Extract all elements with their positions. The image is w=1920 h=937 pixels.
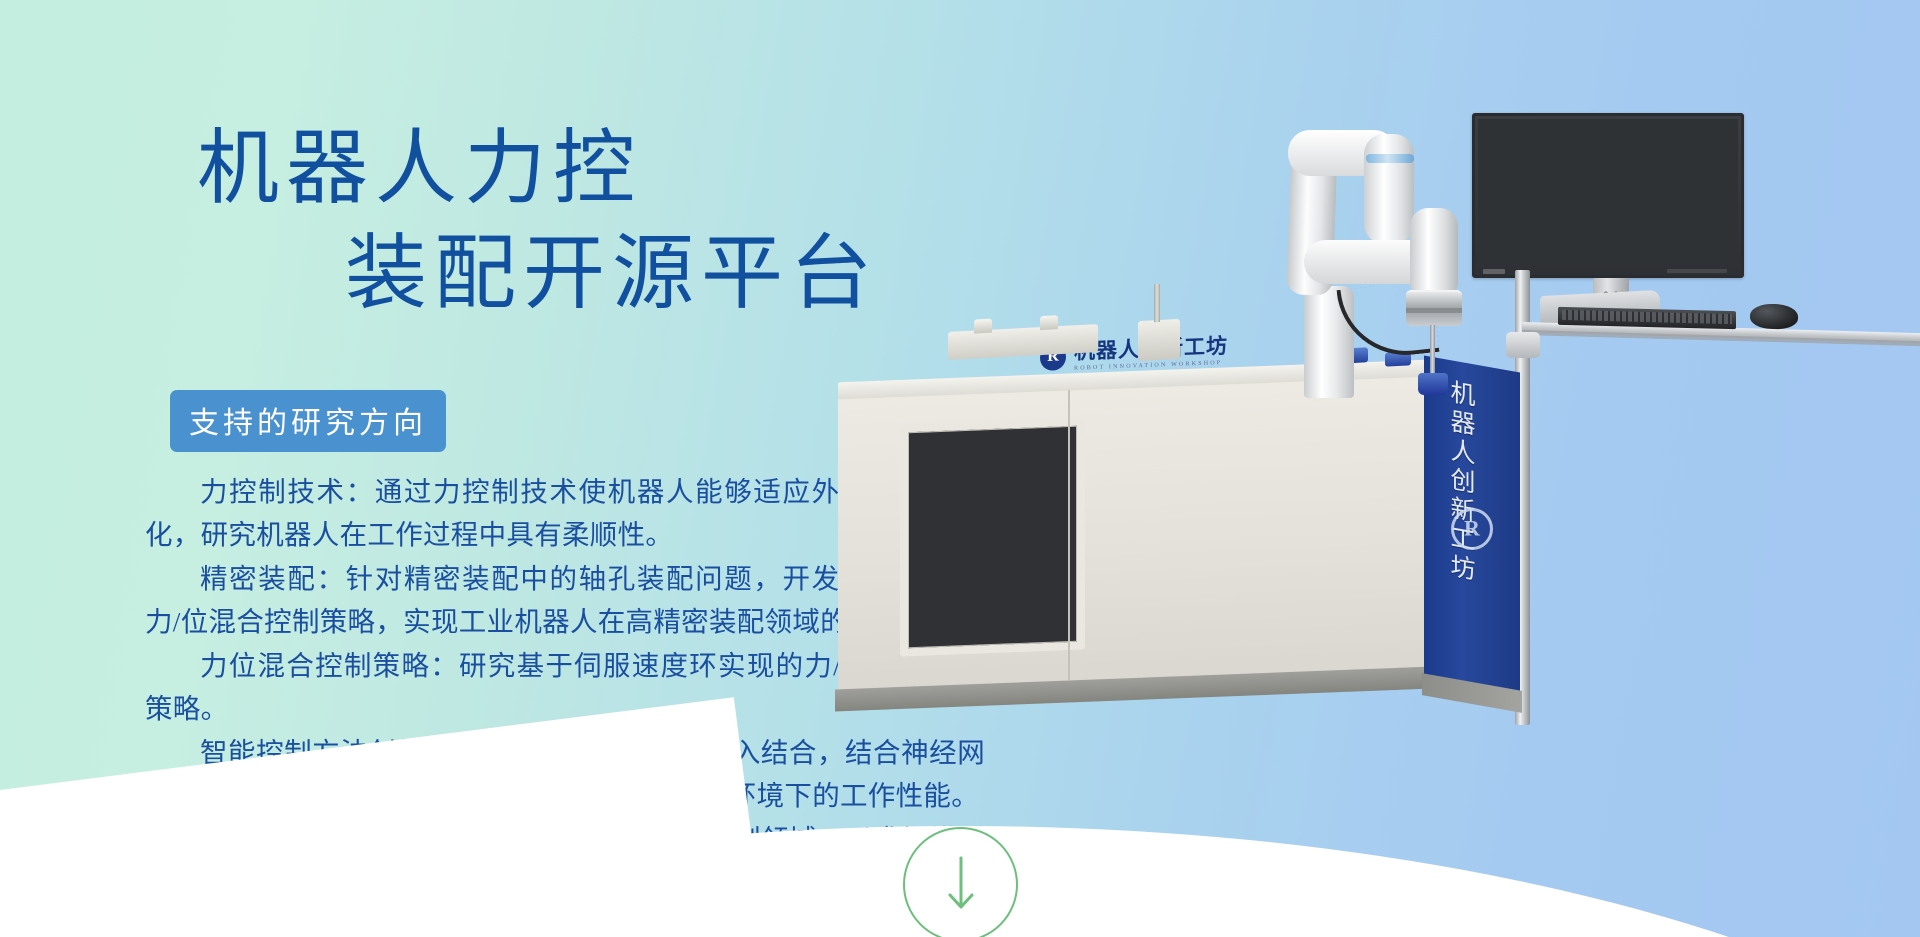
monitor-screen [1478, 119, 1738, 264]
cabinet-door-split [1068, 390, 1070, 680]
force-torque-sensor [1406, 290, 1462, 326]
cabinet-side-logo-icon [1451, 508, 1493, 550]
research-directions-badge: 支持的研究方向 [170, 390, 446, 452]
scroll-down-button[interactable] [903, 827, 1018, 937]
workpiece-fixture-b [1138, 319, 1180, 361]
cabinet-window [900, 417, 1085, 656]
hero-banner: 机器人力控 装配开源平台 支持的研究方向 力控制技术：通过力控制技术使机器人能够… [0, 0, 1920, 937]
mouse [1750, 303, 1798, 329]
assembly-probe-tip [1418, 373, 1448, 395]
monitor-brand-mark [1483, 269, 1505, 274]
assembly-probe-shaft [1430, 325, 1435, 378]
page-title-line-2: 装配开源平台 [345, 233, 879, 315]
arrow-down-icon [944, 854, 978, 916]
robot-arm-elbow [1364, 134, 1414, 244]
cabinet-side-brand-text: 机器人创新工坊 [1442, 377, 1478, 586]
pole-clamp [1506, 332, 1540, 358]
page-title-line-1: 机器人力控 [197, 128, 642, 210]
monitor [1472, 113, 1744, 278]
monitor-buttons [1667, 269, 1727, 273]
robot-arm-blue-ring [1366, 154, 1414, 163]
product-photo: 机器人创新工坊 机器人创新工坊 ROBOT INNOVATION WORKSHO… [1010, 90, 1920, 810]
